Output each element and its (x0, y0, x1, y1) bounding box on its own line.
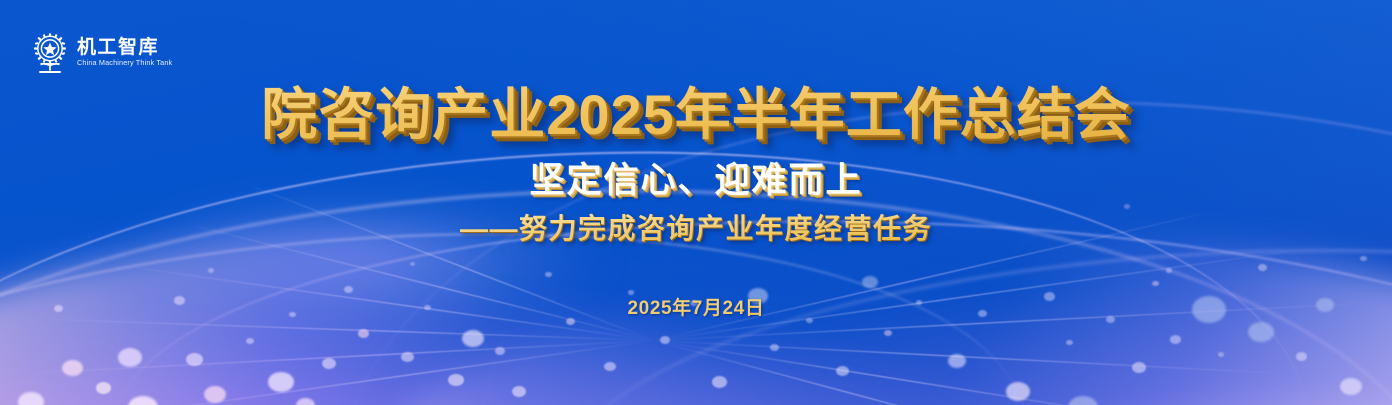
brand-logo-text: 机工智库 China Machinery Think Tank (77, 38, 175, 66)
brand-name-cn: 机工智库 (77, 38, 175, 58)
tagline: ——努力完成咨询产业年度经营任务 (0, 200, 1392, 243)
headline-block: 院咨询产业2025年半年工作总结会 坚定信心、迎难而上 ——努力完成咨询产业年度… (0, 0, 1392, 318)
main-title: 院咨询产业2025年半年工作总结会 (0, 0, 1392, 143)
brand-logo: 机工智库 China Machinery Think Tank (30, 30, 175, 74)
gear-badge-book-icon (30, 30, 70, 74)
subtitle: 坚定信心、迎难而上 (0, 143, 1392, 200)
brand-name-en: China Machinery Think Tank (77, 59, 172, 67)
event-date: 2025年7月24日 (0, 243, 1392, 318)
conference-banner: 机工智库 China Machinery Think Tank 院咨询产业202… (0, 0, 1392, 405)
